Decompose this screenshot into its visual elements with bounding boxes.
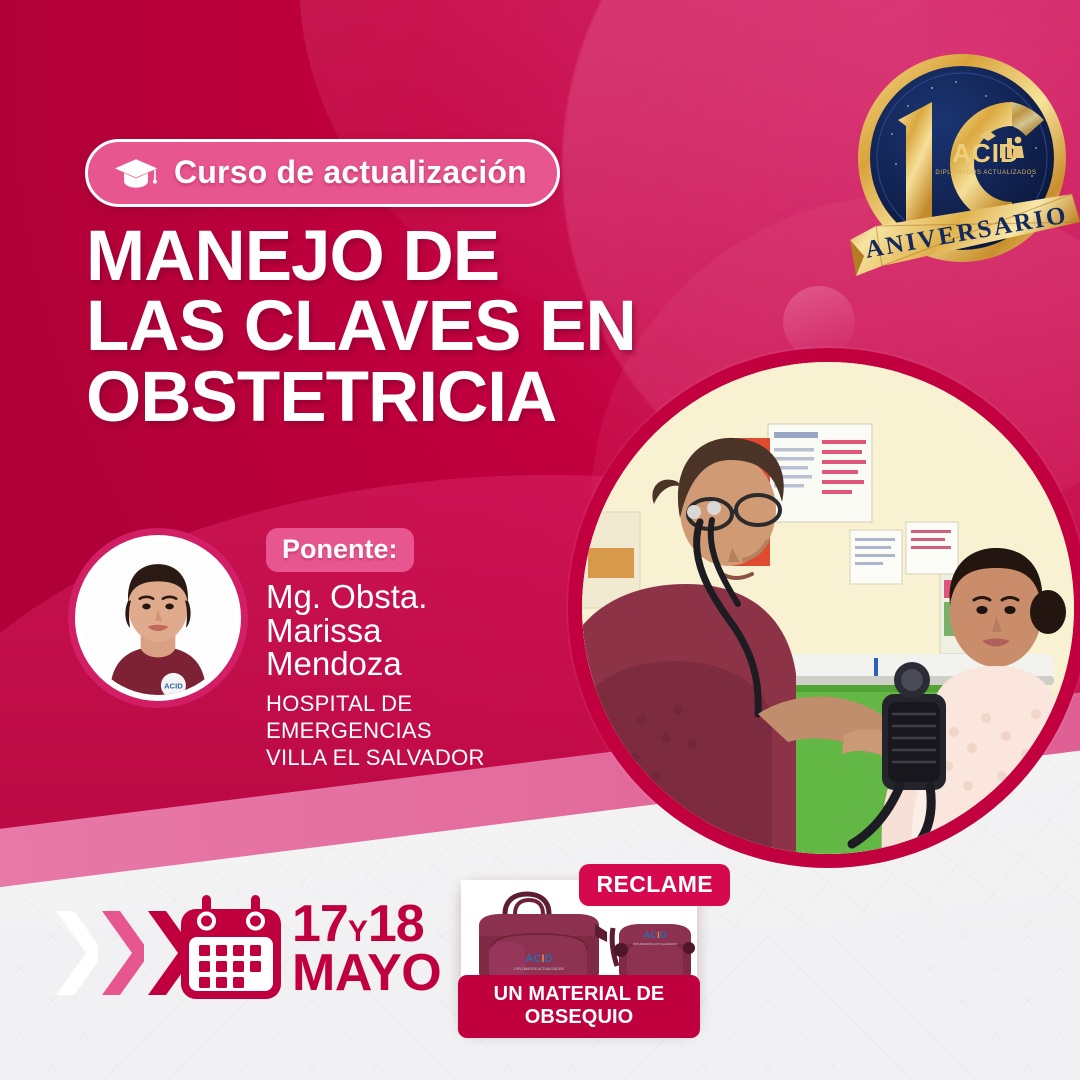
svg-text:ACID: ACID [164, 681, 183, 690]
course-type-badge: Curso de actualización [85, 139, 560, 207]
main-photo-frame [568, 348, 1080, 868]
clinic-scene-image [582, 362, 1074, 854]
speaker-org-line-1: HOSPITAL DE [266, 691, 546, 718]
main-photo [582, 362, 1074, 854]
speaker-details: Ponente: Mg. Obsta. Marissa Mendoza HOSP… [256, 528, 546, 771]
event-date: 17Y18 MAYO [292, 900, 441, 998]
title-line-3: OBSTETRICIA [86, 363, 636, 433]
graduation-cap-icon [114, 156, 158, 190]
speaker-name-line-3: Mendoza [266, 647, 546, 681]
speaker-org-line-3: VILLA EL SALVADOR [266, 745, 546, 772]
speaker-org-line-2: EMERGENCIAS [266, 718, 546, 745]
chevron-group [52, 905, 190, 1001]
title-line-1: MANEJO DE [86, 222, 636, 292]
chevron-right-icon [52, 905, 98, 1001]
anniversary-emblem: ACID DIPLOMADOS ACTUALIZADOS ANIVERSARIO [836, 44, 1080, 296]
promo-poster: Curso de actualización MANEJO DE LAS CLA… [0, 0, 1080, 1080]
speaker-avatar: ACID [68, 528, 248, 708]
speaker-name: Mg. Obsta. Marissa Mendoza [266, 580, 546, 681]
svg-text:DIPLOMADOS ACTUALIZADOS: DIPLOMADOS ACTUALIZADOS [633, 942, 677, 946]
event-month: MAYO [292, 949, 441, 998]
claim-badge: RECLAME [579, 864, 730, 906]
speaker-name-line-1: Mg. Obsta. [266, 580, 546, 614]
title-line-2: LAS CLAVES EN [86, 292, 636, 362]
page-title: MANEJO DE LAS CLAVES EN OBSTETRICIA [86, 222, 636, 433]
gift-card: ACID DIPLOMADOS ACTUALIZADOS ACID DIPLOM… [461, 880, 697, 1030]
speaker-role-badge: Ponente: [266, 528, 414, 572]
svg-text:ACID: ACID [643, 930, 666, 941]
course-type-label: Curso de actualización [174, 154, 527, 191]
gift-caption: UN MATERIAL DE OBSEQUIO [458, 975, 700, 1038]
speaker-name-line-2: Marissa [266, 614, 546, 648]
event-date-days: 17Y18 [292, 900, 441, 949]
svg-text:DIPLOMADOS ACTUALIZADOS: DIPLOMADOS ACTUALIZADOS [935, 170, 1036, 176]
calendar-icon [175, 893, 287, 1005]
speaker-organization: HOSPITAL DE EMERGENCIAS VILLA EL SALVADO… [266, 691, 546, 771]
speaker-portrait-image: ACID [81, 541, 235, 695]
chevron-right-icon [98, 905, 144, 1001]
svg-text:DIPLOMADOS ACTUALIZADOS: DIPLOMADOS ACTUALIZADOS [514, 967, 564, 971]
svg-text:ACID: ACID [526, 953, 553, 965]
